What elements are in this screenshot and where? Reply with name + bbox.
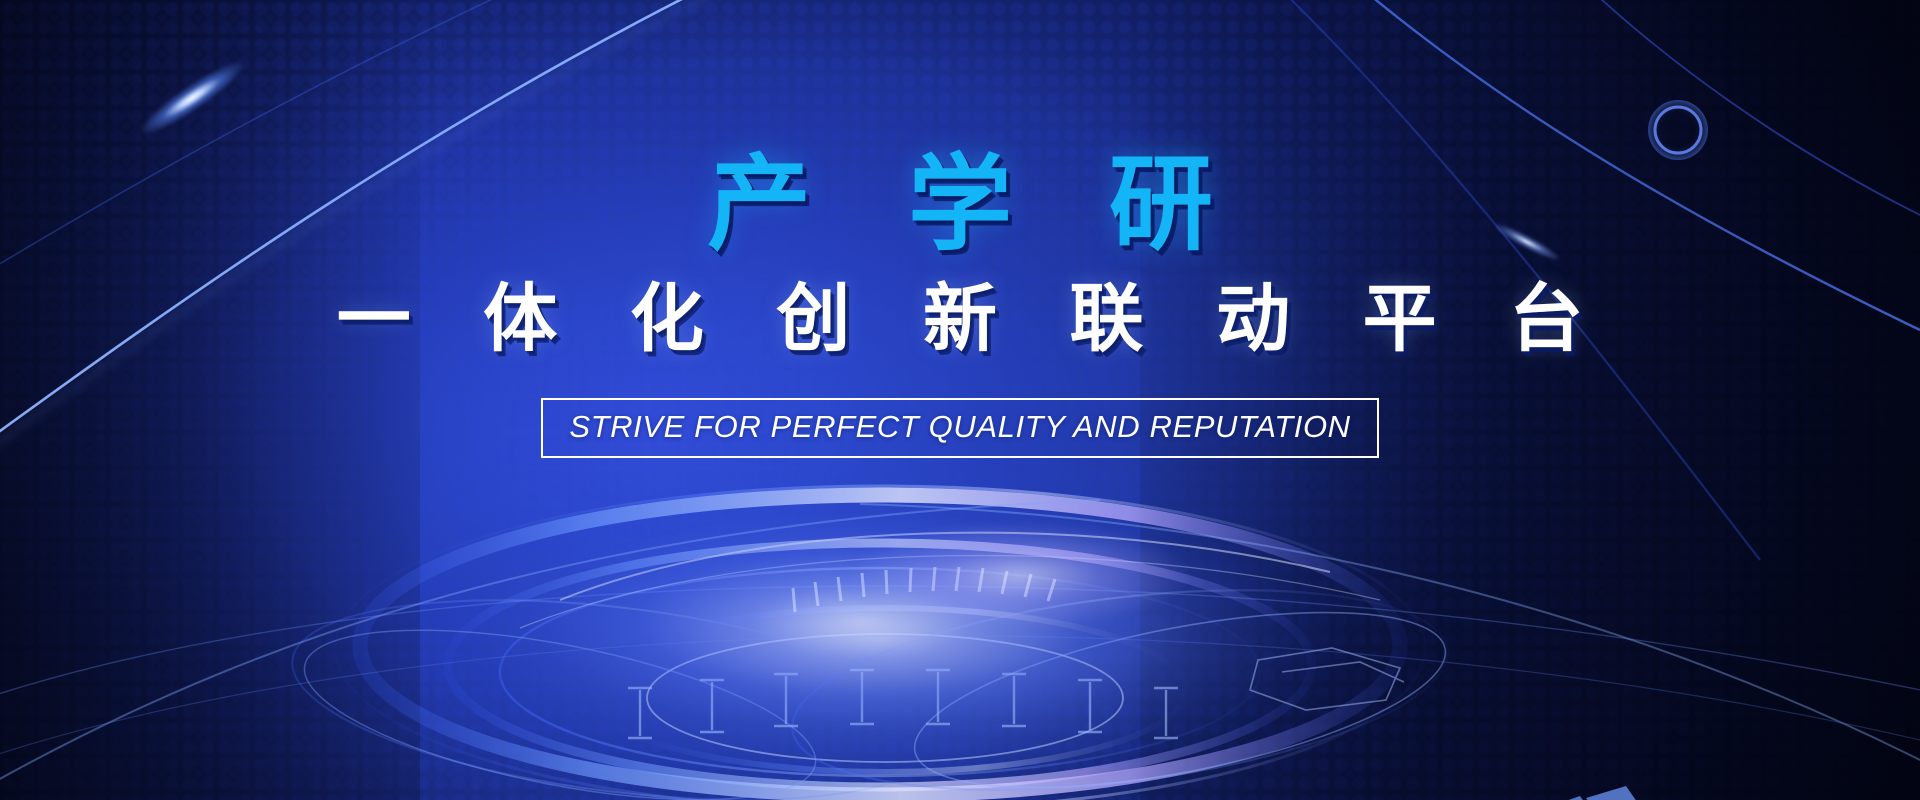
tech-banner: 产 学 研 一 体 化 创 新 联 动 平 台 STRIVE FOR PERFE… <box>0 0 1920 800</box>
banner-content: 产 学 研 一 体 化 创 新 联 动 平 台 STRIVE FOR PERFE… <box>0 0 1920 800</box>
page-title-secondary: 一 体 化 创 新 联 动 平 台 <box>311 280 1609 358</box>
tagline-text: STRIVE FOR PERFECT QUALITY AND REPUTATIO… <box>569 409 1350 445</box>
page-title-primary: 产 学 研 <box>673 152 1247 258</box>
tagline-box: STRIVE FOR PERFECT QUALITY AND REPUTATIO… <box>541 398 1378 458</box>
